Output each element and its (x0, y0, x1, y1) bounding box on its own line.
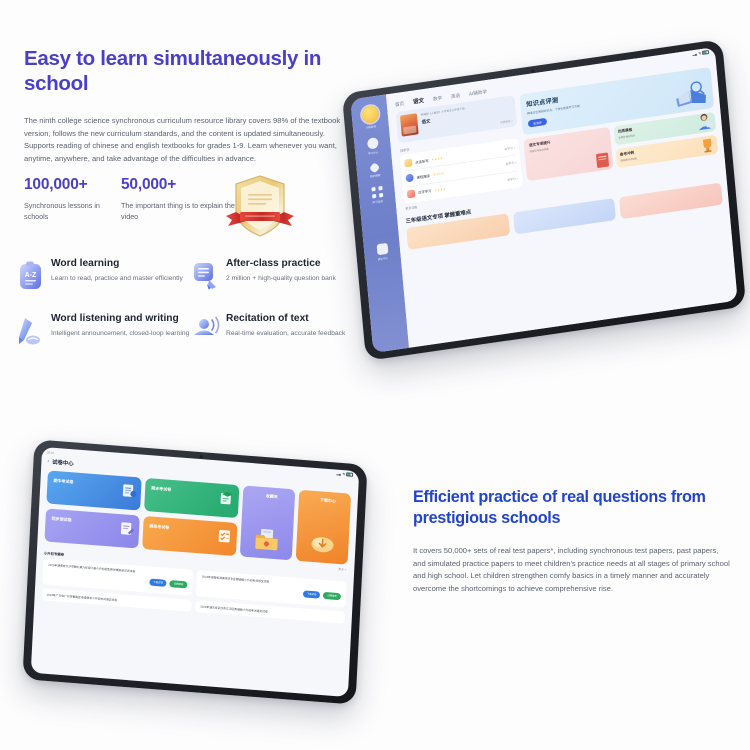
sidebar-item-label: 我的课程 (357, 171, 393, 180)
card-title: 收藏夹 (249, 492, 295, 502)
stylus-pen-icon (16, 315, 46, 347)
battery-icon (702, 50, 709, 55)
character-red-icon (407, 189, 416, 198)
section-two-text-block: Efficient practice of real questions fro… (413, 487, 733, 595)
feature-description: 2 million + high-quality question bank (226, 274, 336, 284)
landing-page: Easy to learn simultaneously in school T… (0, 0, 750, 750)
feature-title: Word listening and writing (51, 313, 189, 325)
red-book-icon (595, 151, 610, 169)
feature-row: A-Z Word learning Learn to read, practic… (16, 258, 356, 292)
category-right-group: 收藏夹 下载中心 (240, 485, 351, 564)
sidebar-item-label: 学习记录 (360, 197, 396, 206)
feature-word-listening-writing: Word listening and writing Intelligent a… (16, 313, 191, 347)
list-item-label: 汉字学习 (418, 188, 432, 195)
feature-after-class-practice: After-class practice 2 million + high-qu… (191, 258, 356, 292)
feature-title: Word learning (51, 258, 183, 270)
stat-label: Synchronous lessons in schools (24, 201, 121, 223)
section-one-heading: Easy to learn simultaneously in school (24, 46, 354, 96)
avatar[interactable] (361, 105, 379, 124)
notebook-pen-icon (118, 520, 135, 537)
feature-description: Intelligent announcement, closed-loop le… (51, 329, 189, 339)
list-item-label: 课程跟读 (416, 173, 430, 180)
sidebar-item-label: 成长中心 (365, 254, 401, 263)
sidebar-item-my-courses[interactable]: 我的课程 (356, 161, 393, 180)
tab-english[interactable]: 英语 (451, 93, 461, 100)
speaker-person-icon (191, 315, 221, 347)
stats-row: 100,000+ Synchronous lessons in schools … (24, 176, 241, 223)
stat-item: 100,000+ Synchronous lessons in schools (24, 176, 121, 223)
section-one-text-block: Easy to learn simultaneously in school T… (24, 46, 354, 165)
download-paper-button[interactable]: 下载试卷 (149, 578, 167, 587)
rating-stars: ★★★★ (433, 171, 445, 177)
view-answers-button[interactable]: 试题解析 (170, 580, 188, 589)
left-column: 统编版《人教版》小学语文三年级下册 ... 语文 切换教材 > 同步学 点读听写… (396, 95, 524, 211)
textbook-cover (400, 113, 419, 136)
document-pen-icon (191, 260, 221, 292)
list-item-action[interactable]: 去学习 > (507, 176, 518, 182)
tree-icon (376, 243, 388, 256)
textbook-meta: 统编版《人教版》小学语文三年级下册 ... 语文 切换教材 > (421, 100, 513, 136)
svg-text:A-Z: A-Z (25, 272, 37, 279)
graduation-paper-icon (218, 490, 235, 507)
speaker-yellow-icon (404, 158, 413, 167)
feature-description: Learn to read, practice and master effic… (51, 274, 183, 284)
right-card-stack: 优质课程 名师好课在线学 (613, 112, 718, 168)
feature-body: Recitation of text Real-time evaluation,… (221, 313, 345, 339)
teacher-avatar-icon (696, 111, 713, 131)
diamond-icon (369, 162, 380, 173)
section-one-paragraph: The ninth college science synchronous cu… (24, 115, 354, 165)
tablet-screen-top: ▂▄ ◥ 小语老师 学习中心 我的课程 学习记录 (350, 47, 737, 353)
feature-recitation-of-text: Recitation of text Real-time evaluation,… (191, 313, 356, 347)
stat-number: 100,000+ (24, 176, 121, 194)
chinese-special-improve-card[interactable]: 语文专项提升 阅读写作双向突破 (523, 127, 613, 181)
mock-exam-card[interactable]: 模拟考试卷 (142, 515, 237, 555)
feature-word-learning: A-Z Word learning Learn to read, practic… (16, 258, 191, 292)
battery-icon (346, 473, 353, 477)
chevron-left-icon[interactable]: ‹ (47, 459, 49, 464)
page-title: 试卷中心 (52, 458, 74, 468)
front-camera-icon (199, 454, 202, 457)
feature-body: After-class practice 2 million + high-qu… (221, 258, 336, 284)
section-two-heading: Efficient practice of real questions fro… (413, 487, 733, 529)
feature-description: Real-time evaluation, accurate feedback (226, 329, 345, 339)
feature-body: Word listening and writing Intelligent a… (46, 313, 189, 339)
midterm-exam-card[interactable]: 期中考试卷 (46, 470, 141, 510)
feature-title: After-class practice (226, 258, 336, 270)
signal-icon: ▂▄ (692, 52, 697, 57)
download-cloud-icon (309, 531, 336, 555)
tablet-device-bottom: ▂▄ ◥ 09:24 ‹ 试卷中心 期中考试卷 (22, 439, 367, 704)
sidebar-item-study-center[interactable]: 学习中心 (354, 135, 391, 157)
list-item-action[interactable]: 去学习 > (504, 146, 515, 152)
feature-grid: A-Z Word learning Learn to read, practic… (16, 258, 356, 347)
tablet-screen-bottom: ▂▄ ◥ 09:24 ‹ 试卷中心 期中考试卷 (31, 447, 360, 697)
rating-stars: ★★★★ (434, 187, 446, 193)
list-item-label: 点读听写 (415, 158, 429, 165)
signal-icon: ▂▄ (336, 472, 341, 476)
tab-home[interactable]: 首页 (395, 101, 405, 108)
trophy-icon (700, 136, 715, 154)
sidebar-item-growth-center[interactable]: 成长中心 (364, 241, 401, 263)
gold-shield-award-icon (218, 170, 302, 246)
grid-dots-icon (371, 186, 383, 199)
feature-body: Word learning Learn to read, practice an… (46, 258, 183, 284)
sidebar-item-label: 学习中心 (355, 148, 391, 157)
section-two-paragraph: It covers 50,000+ sets of real test pape… (413, 545, 733, 595)
card-title: 下载中心 (305, 496, 351, 506)
home-circle-icon (366, 137, 378, 150)
tab-chinese[interactable]: 语文 (413, 96, 425, 106)
favorites-card[interactable]: 收藏夹 (240, 485, 295, 559)
az-card-icon: A-Z (16, 260, 46, 292)
mic-blue-icon (405, 174, 414, 183)
folder-icon (253, 527, 280, 551)
download-center-card[interactable]: 下载中心 (296, 490, 351, 564)
view-answers-button[interactable]: 试题解析 (323, 592, 341, 601)
front-camera-icon (531, 69, 534, 72)
paper-title: 2024年湖北省武汉市江汉区质编版小升初考试语文试卷 (200, 604, 340, 619)
feature-row: Word listening and writing Intelligent a… (16, 313, 356, 347)
feature-title: Recitation of text (226, 313, 345, 325)
paper-title: 2024年广东省广州市番禺区市级联考小升初考试语文试卷 (47, 592, 187, 607)
open-book-magnifier-icon (673, 79, 709, 110)
exam-paper-icon (120, 482, 137, 499)
category-left-group: 期中考试卷 (44, 470, 239, 555)
tablet-device-top: ▂▄ ◥ 小语老师 学习中心 我的课程 学习记录 (342, 39, 746, 361)
wifi-icon: ◥ (698, 51, 701, 55)
sidebar-item-study-record[interactable]: 学习记录 (359, 184, 396, 206)
final-exam-card[interactable]: 期末考试卷 (144, 478, 239, 518)
list-item-action[interactable]: 去学习 > (506, 161, 517, 167)
download-paper-button[interactable]: 下载试卷 (303, 590, 321, 599)
avatar-label: 小语老师 (353, 122, 389, 131)
sync-test-card[interactable]: 同步测试卷 (44, 508, 139, 548)
rating-stars: ★★★★ (431, 156, 443, 162)
banner-cta-button[interactable]: 去测评 (528, 118, 547, 128)
app-main-top: 首页 语文 数学 英语 AI辅助学 统编版《人教版》小学语文三年级下册 ... (386, 47, 738, 348)
wifi-icon: ◥ (342, 472, 345, 476)
checklist-icon (216, 527, 233, 544)
